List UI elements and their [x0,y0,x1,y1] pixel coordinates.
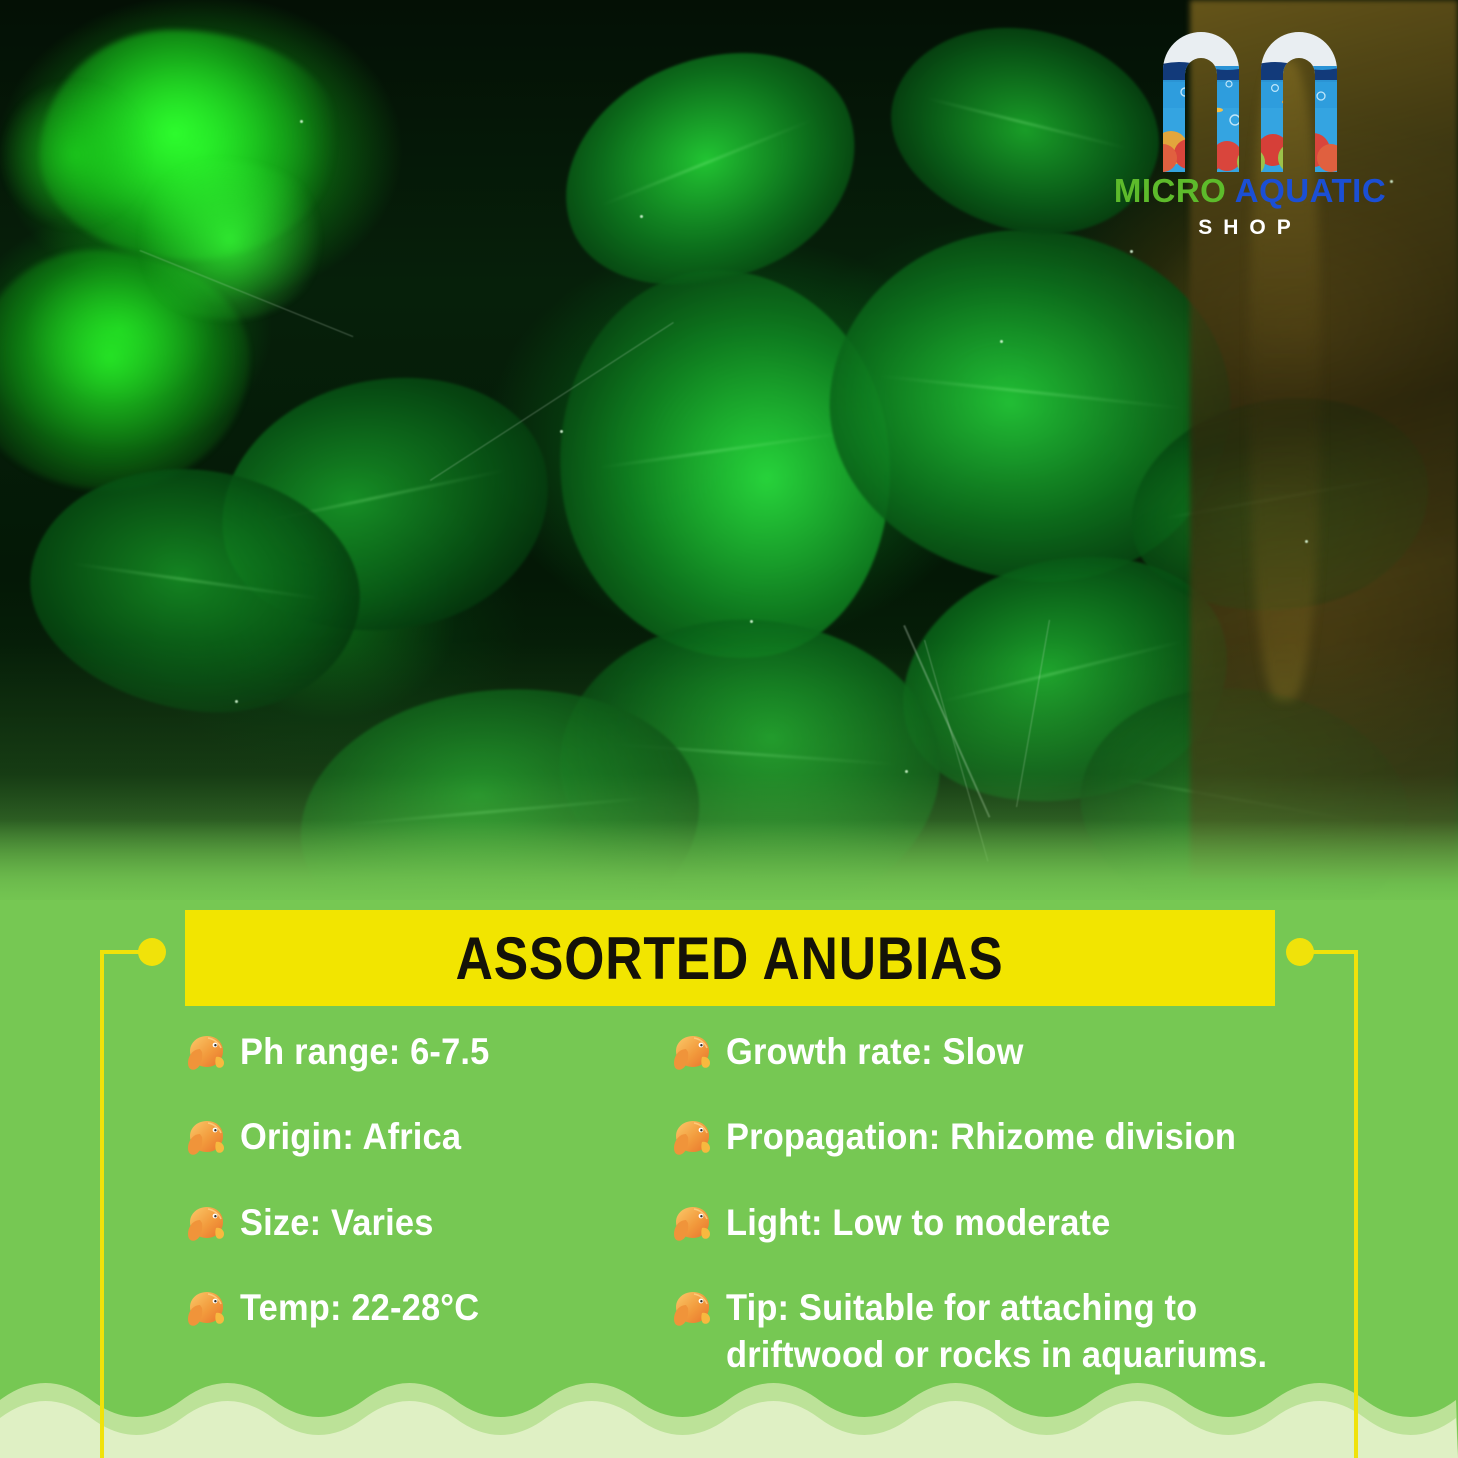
spec-text: Light: Low to moderate [726,1199,1110,1246]
spec-item-size: Size: Varies [186,1199,646,1246]
page-title: ASSORTED ANUBIAS [456,924,1004,993]
spec-item-propagation: Propagation: Rhizome division [672,1113,1372,1160]
brand-logo[interactable]: MICRO AQUATIC SHOP [1100,22,1400,252]
goldfish-icon [672,1203,712,1243]
brand-name-micro: MICRO [1114,172,1227,209]
goldfish-icon [672,1288,712,1328]
spec-text: Temp: 22-28°C [240,1284,479,1331]
frame-dot-left [138,938,166,966]
spec-item-ph-range: Ph range: 6-7.5 [186,1028,646,1075]
spec-text: Tip: Suitable for attaching to driftwood… [726,1284,1327,1379]
spec-grid: Ph range: 6-7.5 Origin: Africa [0,1028,1458,1388]
goldfish-icon [186,1117,226,1157]
aquarium-letter-m-icon [1155,22,1345,172]
spec-item-origin: Origin: Africa [186,1113,646,1160]
spec-text: Growth rate: Slow [726,1028,1024,1075]
spec-item-temp: Temp: 22-28°C [186,1284,646,1331]
spec-column-right: Growth rate: Slow Propagation: Rhizome d… [672,1028,1372,1417]
spec-item-light: Light: Low to moderate [672,1199,1372,1246]
panel-top-blend [0,820,1458,910]
goldfish-icon [186,1288,226,1328]
goldfish-icon [186,1032,226,1072]
spec-text: Origin: Africa [240,1113,461,1160]
goldfish-icon [672,1032,712,1072]
goldfish-icon [186,1203,226,1243]
goldfish-icon [672,1117,712,1157]
brand-name-shop: SHOP [1100,216,1400,240]
spec-column-left: Ph range: 6-7.5 Origin: Africa [186,1028,646,1369]
spec-text: Propagation: Rhizome division [726,1113,1236,1160]
brand-wordmark: MICRO AQUATIC [1100,174,1400,207]
product-info-card: MICRO AQUATIC SHOP ASSORTED ANUBIAS [0,0,1458,1458]
spec-item-growth-rate: Growth rate: Slow [672,1028,1372,1075]
spec-text: Size: Varies [240,1199,434,1246]
brand-name-aquatic: AQUATIC [1235,172,1386,209]
title-banner: ASSORTED ANUBIAS [185,910,1275,1006]
spec-item-tip: Tip: Suitable for attaching to driftwood… [672,1284,1372,1379]
spec-text: Ph range: 6-7.5 [240,1028,489,1075]
frame-dot-right [1286,938,1314,966]
